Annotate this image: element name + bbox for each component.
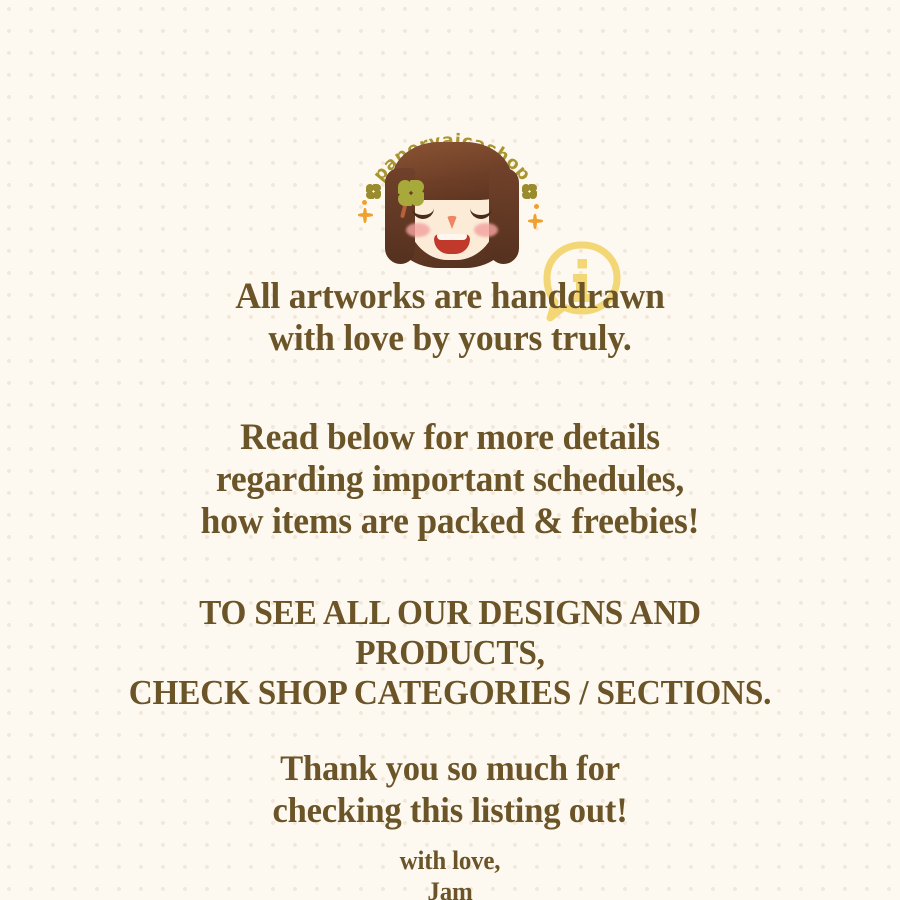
avatar-blush-left bbox=[406, 223, 430, 237]
clover-icon-right bbox=[522, 184, 537, 199]
message-body: All artworks are handdrawn with love by … bbox=[0, 276, 900, 900]
intro-line-1: All artworks are handdrawn bbox=[235, 276, 665, 317]
shop-logo-header: papervaicashop bbox=[0, 108, 900, 278]
signature-line-1: with love, bbox=[400, 846, 501, 875]
intro-paragraph: All artworks are handdrawn with love by … bbox=[18, 276, 882, 360]
listing-info-card: papervaicashop bbox=[0, 0, 900, 900]
signature-line-2: Jam bbox=[427, 877, 472, 900]
clover-hairclip-icon bbox=[398, 180, 424, 206]
sparkle-icon-right bbox=[528, 214, 542, 228]
thanks-line-1: Thank you so much for bbox=[280, 748, 620, 788]
categories-notice-line-1: TO SEE ALL OUR DESIGNS AND bbox=[199, 593, 701, 632]
sparkle-dot-left bbox=[362, 200, 367, 205]
sparkle-icon-left bbox=[358, 208, 372, 222]
read-more-line-3: how items are packed & freebies! bbox=[201, 501, 700, 542]
clover-icon-left bbox=[366, 184, 381, 199]
intro-line-2: with love by yours truly. bbox=[268, 318, 631, 359]
thanks-paragraph: Thank you so much for checking this list… bbox=[18, 747, 882, 831]
categories-notice-paragraph: TO SEE ALL OUR DESIGNS AND PRODUCTS, CHE… bbox=[23, 593, 878, 713]
shop-logo: papervaicashop bbox=[352, 108, 552, 276]
read-more-paragraph: Read below for more details regarding im… bbox=[18, 417, 882, 543]
avatar-nose bbox=[447, 216, 457, 229]
sparkle-dot-right bbox=[534, 204, 539, 209]
categories-notice-line-2: PRODUCTS, bbox=[355, 633, 544, 672]
read-more-line-1: Read below for more details bbox=[240, 417, 660, 458]
avatar-blush-right bbox=[474, 223, 498, 237]
avatar-side-hair-right bbox=[489, 168, 519, 264]
signature-block: with love, Jam bbox=[18, 845, 882, 900]
avatar bbox=[382, 138, 522, 270]
thanks-line-2: checking this listing out! bbox=[272, 790, 627, 830]
categories-notice-line-3: CHECK SHOP CATEGORIES / SECTIONS. bbox=[129, 673, 772, 712]
read-more-line-2: regarding important schedules, bbox=[216, 459, 684, 500]
